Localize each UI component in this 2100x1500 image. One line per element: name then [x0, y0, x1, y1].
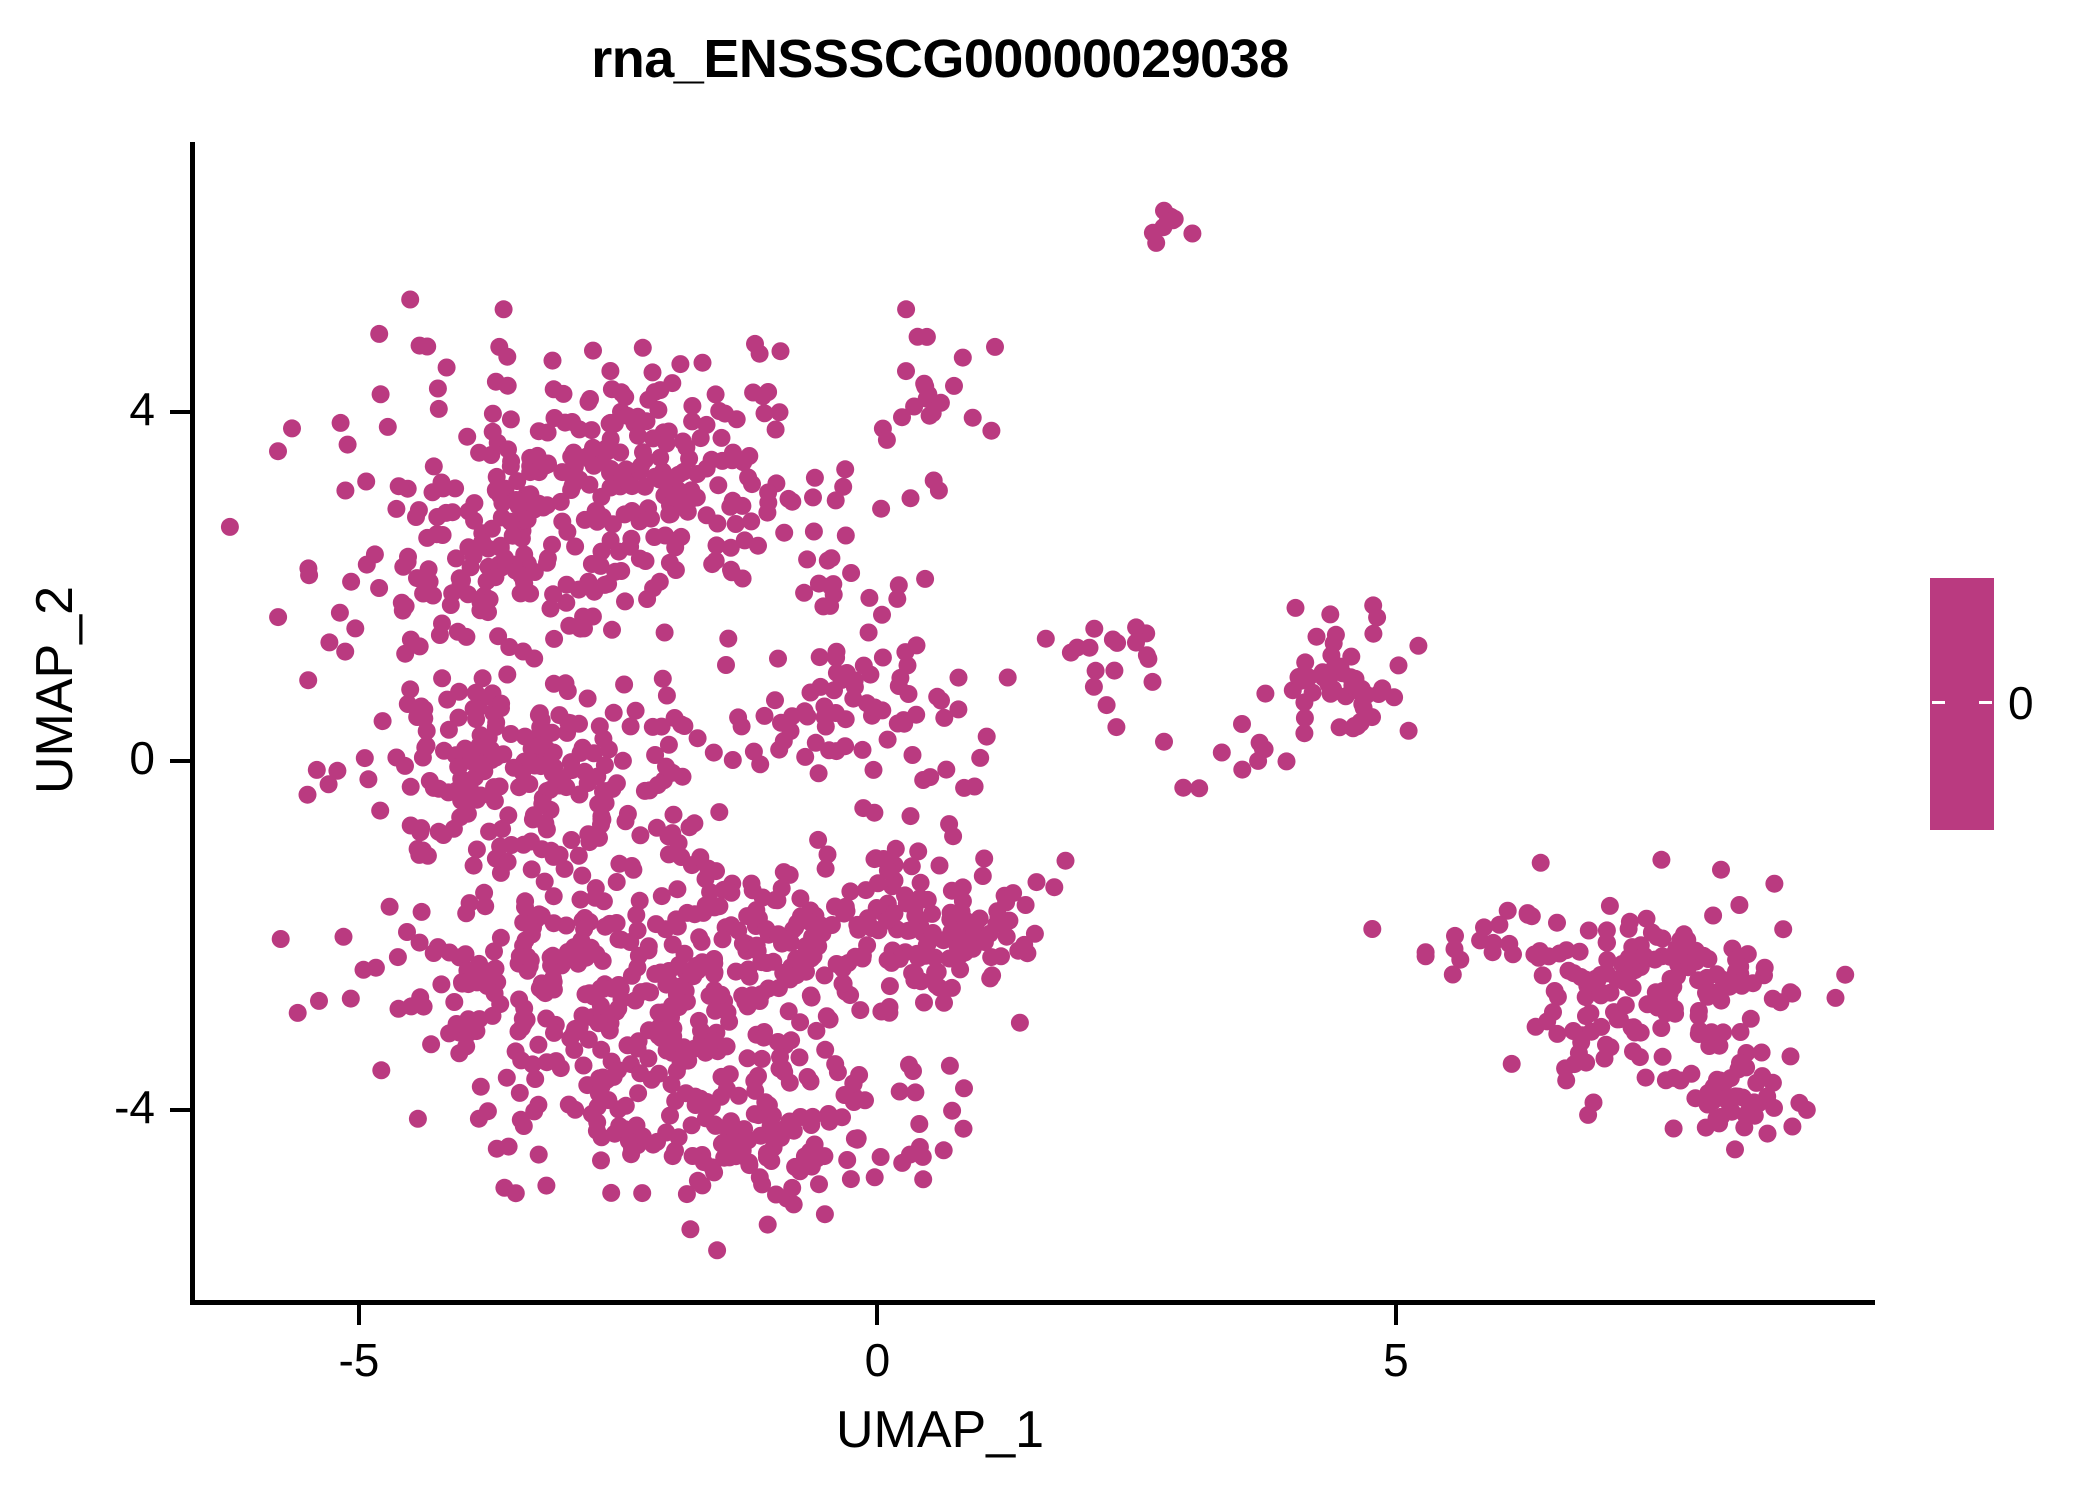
colorbar-tick-left	[1932, 701, 1945, 704]
x-tick-mark	[357, 1305, 361, 1325]
y-axis-title: UMAP_2	[25, 390, 85, 990]
y-tick-label: -4	[0, 1080, 155, 1134]
x-tick-mark	[1394, 1305, 1398, 1325]
legend-colorbar[interactable]: 0	[1930, 578, 2080, 908]
chart-canvas: rna_ENSSSCG00000029038 40-4 -505 UMAP_1 …	[0, 0, 2100, 1500]
x-tick-label: 0	[777, 1333, 977, 1387]
colorbar-tick-right	[1979, 701, 1992, 704]
colorbar-tick-label: 0	[2008, 676, 2034, 730]
page-title: rna_ENSSSCG00000029038	[0, 28, 1880, 90]
x-axis-title: UMAP_1	[0, 1400, 1880, 1460]
x-tick-label: 5	[1296, 1333, 1496, 1387]
x-tick-label: -5	[259, 1333, 459, 1387]
y-tick-mark	[170, 759, 190, 763]
x-axis-line	[190, 1300, 1875, 1305]
colorbar-gradient	[1930, 578, 1994, 830]
y-tick-mark	[170, 410, 190, 414]
x-tick-mark	[875, 1305, 879, 1325]
plot-panel	[193, 142, 1873, 1302]
y-axis-line	[190, 142, 195, 1305]
y-tick-mark	[170, 1108, 190, 1112]
